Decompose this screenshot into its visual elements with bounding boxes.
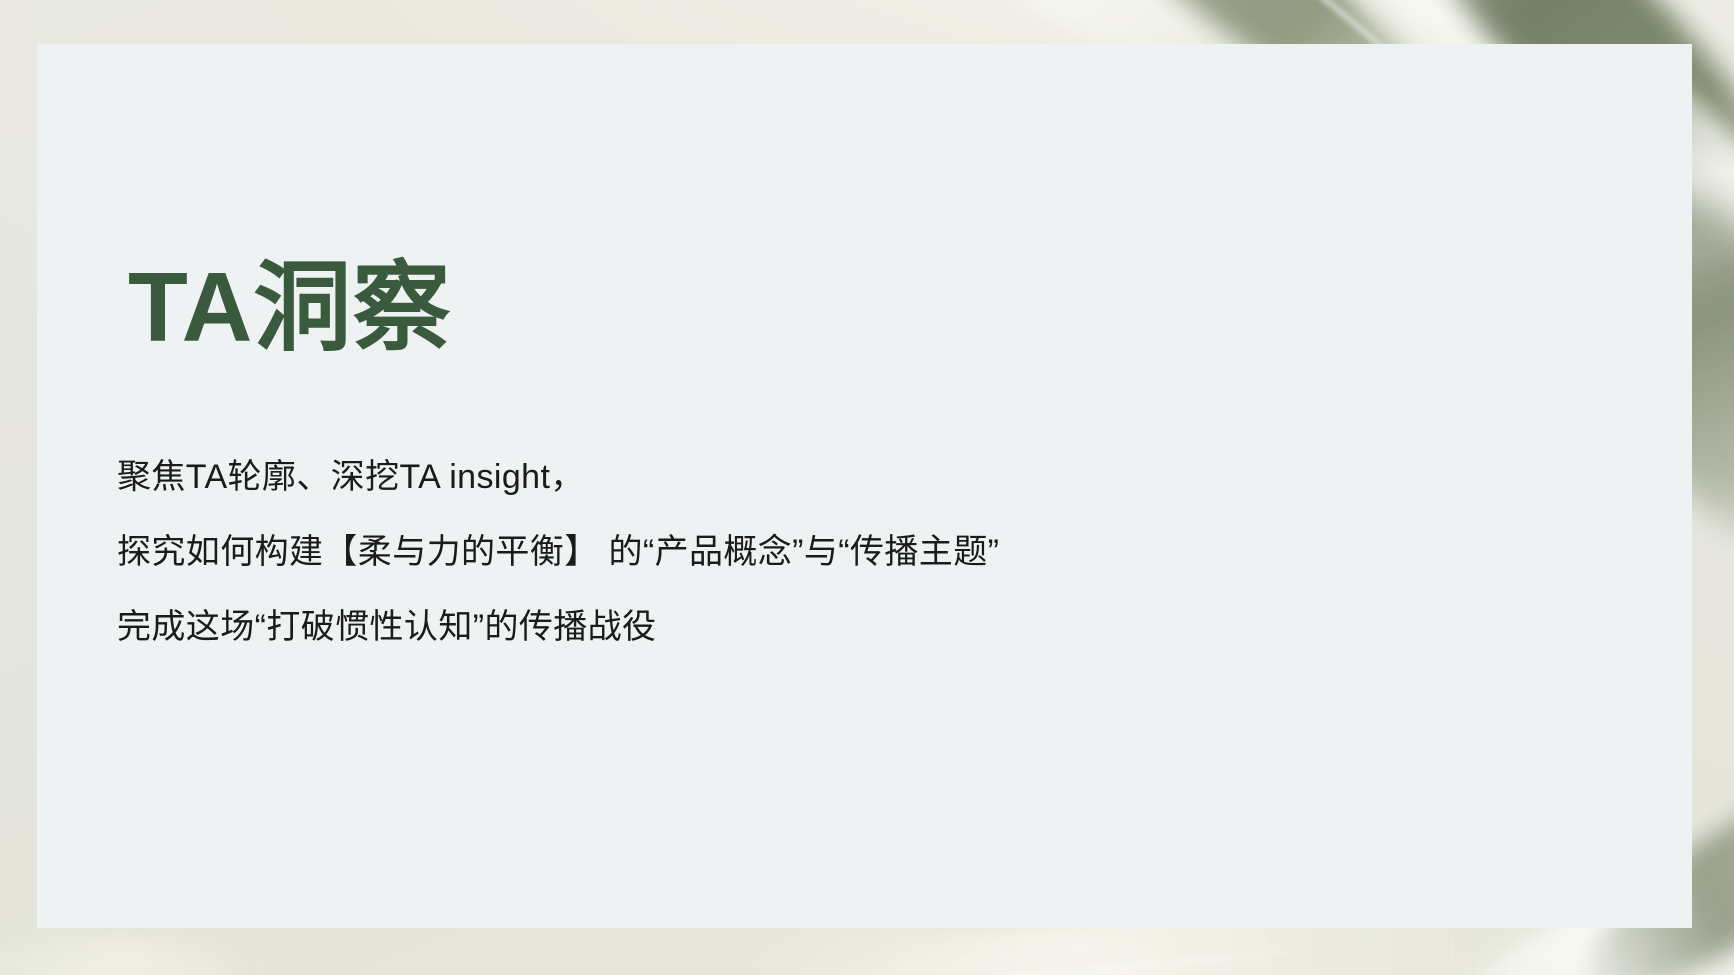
page-title: TA洞察: [128, 258, 451, 356]
subtitle-line-1: 聚焦TA轮廓、深挖TA insight，: [117, 440, 999, 515]
subtitle-line-2: 探究如何构建【柔与力的平衡】 的“产品概念”与“传播主题”: [117, 515, 999, 590]
presentation-slide: TA洞察 聚焦TA轮廓、深挖TA insight， 探究如何构建【柔与力的平衡】…: [0, 0, 1734, 975]
subtitle-line-3: 完成这场“打破惯性认知”的传播战役: [117, 590, 999, 665]
subtitle-block: 聚焦TA轮廓、深挖TA insight， 探究如何构建【柔与力的平衡】 的“产品…: [117, 440, 999, 665]
